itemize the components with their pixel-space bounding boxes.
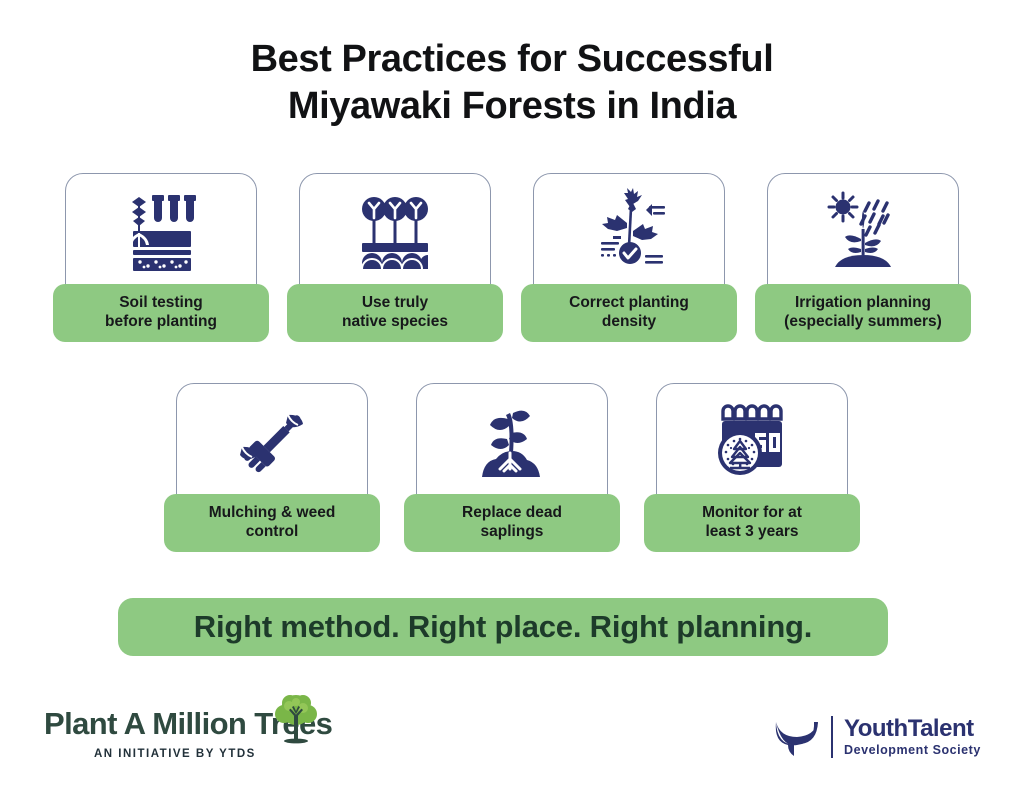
ytds-divider	[831, 716, 833, 758]
card-label: Use truly native species	[287, 284, 503, 342]
ytds-logo: YouthTalent Development Society	[772, 708, 1004, 766]
page-title-line-1: Best Practices for Successful	[0, 36, 1024, 83]
tagline-banner: Right method. Right place. Right plannin…	[118, 598, 888, 656]
practice-card-monitor-three-years[interactable]: Monitor for at least 3 years	[644, 383, 860, 552]
practice-card-row-2: Mulching & weed control	[0, 383, 1024, 552]
practice-card-native-species[interactable]: Use truly native species	[287, 173, 503, 342]
card-label: Mulching & weed control	[164, 494, 380, 552]
page-title: Best Practices for Successful Miyawaki F…	[0, 36, 1024, 130]
calendar-tree-monitor-icon	[656, 389, 848, 497]
practice-card-replace-dead-saplings[interactable]: Replace dead saplings	[404, 383, 620, 552]
rake-leaves-icon	[176, 389, 368, 497]
practice-card-irrigation-planning[interactable]: Irrigation planning (especially summers)	[755, 173, 971, 342]
card-label: Correct planting density	[521, 284, 737, 342]
ytds-name: YouthTalent	[844, 717, 981, 741]
card-label: Monitor for at least 3 years	[644, 494, 860, 552]
sapling-roots-soil-icon	[416, 389, 608, 497]
practice-card-soil-testing[interactable]: Soil testing before planting	[53, 173, 269, 342]
planting-density-seedling-icon	[533, 179, 725, 287]
page-title-line-2: Miyawaki Forests in India	[0, 83, 1024, 130]
ytds-text-block: YouthTalent Development Society	[844, 717, 981, 757]
practice-card-row-1: Soil testing before planting	[0, 173, 1024, 342]
ytds-bird-mark-icon	[772, 716, 822, 758]
card-label: Replace dead saplings	[404, 494, 620, 552]
card-label: Soil testing before planting	[53, 284, 269, 342]
tree-logo-icon	[272, 694, 320, 746]
practice-card-mulching-weed-control[interactable]: Mulching & weed control	[164, 383, 380, 552]
soil-test-layers-icon	[65, 179, 257, 287]
native-trees-ground-icon	[299, 179, 491, 287]
pamt-subtitle: AN INITIATIVE BY YTDS	[94, 748, 256, 760]
card-label: Irrigation planning (especially summers)	[755, 284, 971, 342]
practice-card-planting-density[interactable]: Correct planting density	[521, 173, 737, 342]
plant-a-million-trees-logo: Plant A Million Trees	[44, 700, 374, 772]
sun-rain-plant-icon	[767, 179, 959, 287]
ytds-subtitle: Development Society	[844, 744, 981, 757]
